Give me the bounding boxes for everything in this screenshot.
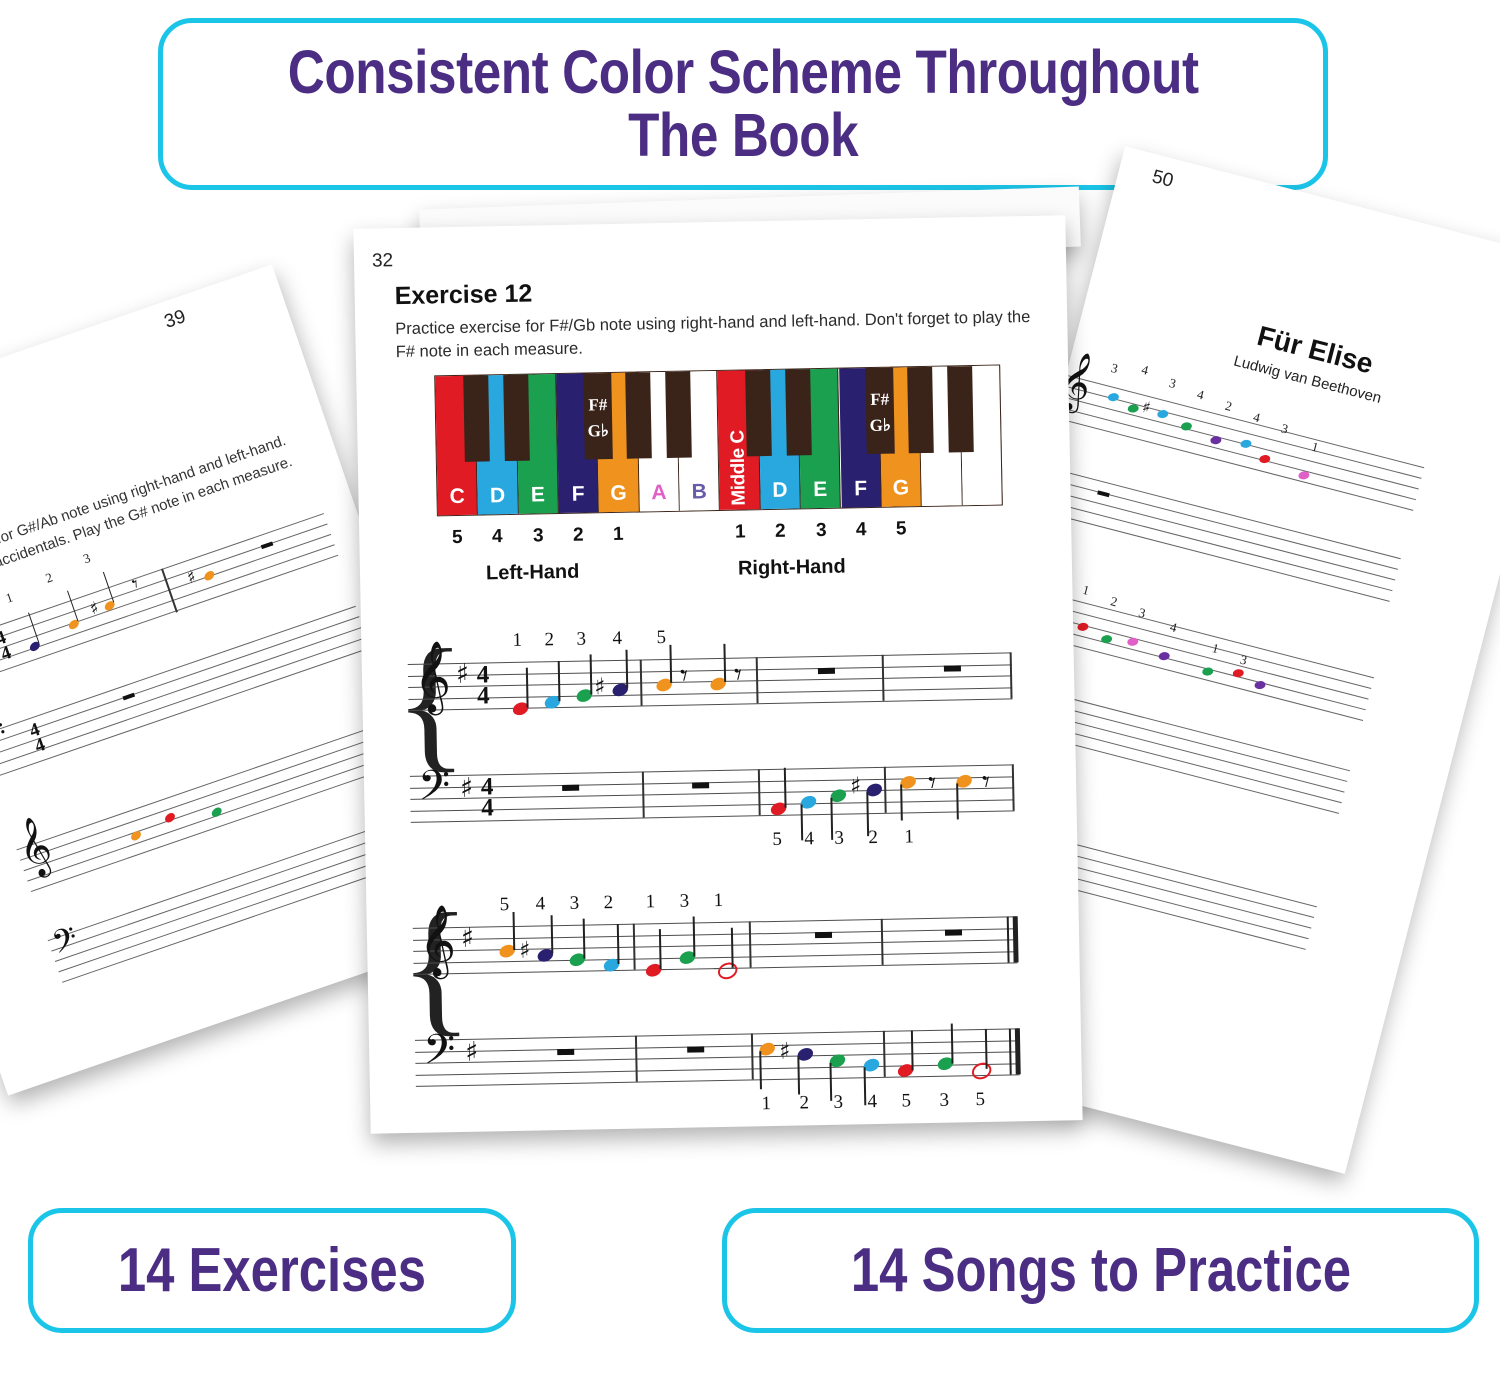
note-head (1219, 535, 1231, 544)
key-label: D (478, 484, 518, 509)
fingering-number: 5 (970, 1089, 990, 1111)
treble-clef-icon: 𝄞 (413, 645, 451, 708)
lh-finger-5: 5 (445, 527, 469, 549)
fingering-number: 1 (1081, 582, 1091, 599)
quarter-rest: 𝄾 (680, 659, 689, 694)
key-label (962, 499, 1001, 500)
black-key-d-sharp-low[interactable] (503, 375, 530, 462)
whole-rest (944, 665, 961, 671)
exercises-count-badge: 14 Exercises (28, 1208, 516, 1333)
banner-title-text: Consistent Color Scheme Throughout The B… (288, 41, 1199, 168)
fingering-number: 3 (828, 1092, 848, 1114)
fingering-number: 4 (607, 628, 627, 650)
whole-rest (687, 1046, 704, 1052)
key-label: C (437, 485, 477, 510)
black-key-g-sharp-low[interactable] (625, 372, 652, 459)
sharp-accidental: ♯ (779, 1039, 791, 1065)
fingering-number: 3 (571, 628, 591, 650)
fingering-number: 2 (43, 569, 54, 586)
fingering-number: 4 (1195, 386, 1205, 403)
key-signature-sharp: ♯ (456, 659, 470, 690)
black-key-c-sharp-high[interactable] (745, 370, 772, 457)
whole-rest (557, 1048, 574, 1054)
fingering-number: 1 (4, 589, 15, 606)
lh-finger-1: 1 (606, 524, 630, 546)
lh-finger-4: 4 (485, 526, 509, 548)
treble-staff-1: 𝄞 ♯ 44 ♯ 𝄾 𝄾 (408, 652, 1013, 712)
rh-finger-5: 5 (889, 518, 913, 540)
sharp-accidental: ♯ (519, 938, 531, 964)
bass-staff-2: 𝄢 ♯ ♯ (415, 1028, 1020, 1088)
black-key-g-sharp-high[interactable] (907, 367, 934, 454)
key-label: F (558, 482, 598, 507)
treble-staff-2: 𝄞 ♯ ♯ (413, 916, 1018, 976)
fingering-number: 3 (1167, 375, 1177, 392)
bass-clef-icon: 𝄢 (423, 1029, 456, 1080)
bass-clef-icon: 𝄢 (418, 765, 451, 816)
whole-rest (818, 667, 835, 673)
g-flat-label: G♭ (584, 421, 612, 442)
fingering-number: 1 (756, 1093, 776, 1115)
bass-clef-icon: 𝄢 (48, 922, 83, 966)
time-signature-bass-1: 44 (476, 777, 499, 818)
quarter-rest: 𝄾 (928, 766, 937, 801)
black-key-d-sharp-high[interactable] (785, 369, 812, 456)
main-page-exercise-12: 32 Exercise 12 Practice exercise for F#/… (353, 215, 1082, 1134)
time-signature: 44 (0, 629, 16, 664)
whole-rest (562, 784, 579, 790)
songs-count-text: 14 Songs to Practice (850, 1240, 1350, 1302)
note-head (1077, 622, 1089, 631)
g-flat-label: G♭ (866, 416, 894, 437)
fingering-number: 3 (934, 1090, 954, 1112)
fingering-number: 1 (708, 890, 728, 912)
f-sharp-label: F# (866, 390, 894, 411)
note-head (1240, 439, 1252, 448)
lh-finger-2: 2 (566, 524, 590, 546)
fingering-number: 3 (829, 828, 849, 850)
black-key-f-sharp-high[interactable]: F# G♭ (865, 368, 895, 455)
time-signature-treble-1: 44 (472, 665, 495, 706)
black-key-c-sharp-low[interactable] (463, 375, 490, 462)
fingering-number: 1 (1310, 439, 1320, 456)
fingering-number: 2 (539, 629, 559, 651)
note-head (203, 569, 217, 582)
note-head (1298, 471, 1310, 480)
fingering-number: 2 (598, 892, 618, 914)
note-head (1202, 667, 1214, 676)
rh-finger-2: 2 (768, 521, 792, 543)
whole-rest (945, 929, 962, 935)
key-signature-sharp: ♯ (461, 923, 475, 954)
key-label: B (679, 480, 719, 505)
note-head (1127, 404, 1139, 413)
black-key-f-sharp-low[interactable]: F# G♭ (583, 373, 613, 460)
fingering-number: 3 (564, 893, 584, 915)
key-label: F (841, 477, 881, 502)
key-signature-sharp: ♯ (460, 773, 474, 804)
rh-finger-1: 1 (728, 521, 752, 543)
fingering-number: 5 (896, 1090, 916, 1112)
fingering-number: 4 (862, 1091, 882, 1113)
fingering-number: 2 (1109, 593, 1119, 610)
fingering-number: 3 (1280, 421, 1290, 438)
treble-clef-icon: 𝄞 (11, 818, 57, 877)
time-signature: 44 (25, 721, 50, 756)
fingering-number: 4 (799, 828, 819, 850)
exercise-title: Exercise 12 (394, 279, 532, 311)
note-head (1210, 436, 1222, 445)
rh-finger-3: 3 (809, 520, 833, 542)
key-label: D (760, 478, 800, 503)
black-key-a-sharp-high[interactable] (947, 366, 974, 453)
right-hand-label: Right-Hand (738, 556, 846, 581)
lh-finger-3: 3 (526, 525, 550, 547)
staff-system-2: { 𝄞 ♯ ♯ (412, 896, 1019, 1088)
note-head (715, 960, 740, 983)
page-number-right: 50 (1150, 166, 1176, 193)
page-number-main: 32 (372, 250, 394, 272)
fingering-number: 5 (651, 627, 671, 649)
fingering-number: 3 (81, 550, 92, 567)
fingering-number: 4 (1168, 619, 1178, 636)
treble-clef-icon: 𝄞 (418, 909, 456, 972)
note-head (1157, 409, 1169, 418)
fingering-number: 3 (674, 890, 694, 912)
note-head (1254, 680, 1266, 689)
left-hand-label: Left-Hand (486, 561, 580, 586)
page-number-left: 39 (162, 306, 189, 334)
key-label: E (800, 478, 840, 503)
exercise-description: Practice exercise for F#/Gb note using r… (395, 306, 1036, 365)
exercises-count-text: 14 Exercises (118, 1240, 426, 1302)
whole-rest (692, 782, 709, 788)
key-label: A (639, 481, 679, 506)
rh-finger-4: 4 (849, 519, 873, 541)
key-label: E (518, 483, 558, 508)
fingering-number: 3 (1109, 360, 1119, 377)
fingering-number: 5 (494, 894, 514, 916)
fingering-number: 4 (1140, 362, 1150, 379)
sharp-accidental: ♯ (594, 674, 606, 700)
f-sharp-label: F# (584, 395, 612, 416)
staff-system-1: { 𝄞 ♯ 44 ♯ 𝄾 𝄾 (407, 632, 1014, 824)
piano-keyboard-diagram[interactable]: C D E F G A B Middle C D E F G F# G♭ F# … (434, 365, 1003, 517)
fingering-number: 2 (794, 1092, 814, 1114)
fingering-number: 4 (1251, 409, 1261, 426)
fingering-number: 5 (767, 829, 787, 851)
note-head (1127, 637, 1139, 646)
fingering-number: 2 (1223, 398, 1233, 415)
key-signature-sharp: ♯ (465, 1037, 479, 1068)
fingering-number: 4 (530, 893, 550, 915)
songs-count-badge: 14 Songs to Practice (722, 1208, 1479, 1333)
bass-staff-1: 𝄢 ♯ 44 ♯ 𝄾 𝄾 (410, 764, 1015, 824)
key-label (922, 499, 961, 500)
sharp-accidental: ♯ (850, 773, 862, 799)
black-key-a-sharp-low[interactable] (665, 371, 692, 458)
key-label: G (599, 481, 639, 506)
fingering-number: 1 (899, 826, 919, 848)
quarter-rest: 𝄾 (982, 765, 991, 800)
fingering-number: 1 (640, 891, 660, 913)
whole-rest (815, 931, 832, 937)
fingering-number: 1 (507, 630, 527, 652)
quarter-rest: 𝄾 (734, 658, 743, 693)
key-label: G (881, 476, 921, 501)
sharp-accidental: ♯ (184, 567, 198, 589)
fingering-number: 2 (863, 827, 883, 849)
